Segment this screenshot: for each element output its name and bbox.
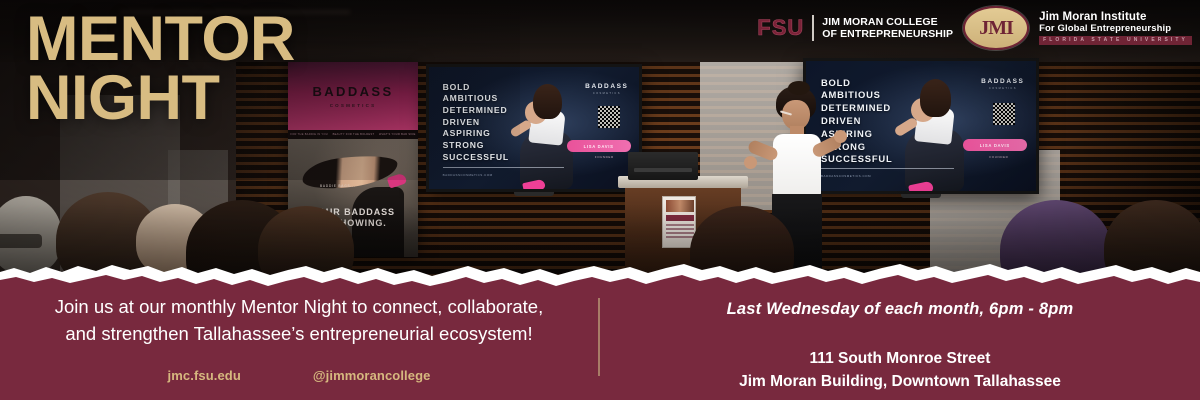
jmi-monogram: JMI — [979, 17, 1013, 40]
poster-tagline-small: BADDIE BAGS... — [320, 184, 355, 188]
screen-fine-print: BADDASSCOSMETICS.COM — [443, 173, 493, 177]
mentor-night-banner: BADDASS COSMETICS FOR THE BADDIE IN YOU … — [0, 0, 1200, 400]
screen-word-6: STRONG — [443, 140, 509, 152]
qr-code-icon — [598, 106, 620, 128]
fsu-college-name: JIM MORAN COLLEGE OF ENTREPRENEURSHIP — [822, 16, 953, 41]
presenter-hand-right — [834, 130, 847, 143]
screen-brand-lockup: BADDASS COSMETICS — [585, 83, 628, 95]
info-bar-right: Last Wednesday of each month, 6pm - 8pm … — [600, 282, 1200, 400]
event-blurb-line-2: and strengthen Tallahassee’s entrepreneu… — [55, 321, 543, 348]
screen-word-3: DETERMINED — [443, 105, 509, 117]
screen-word-7: SUCCESSFUL — [443, 152, 509, 164]
screen-word-list: BOLD AMBITIOUS DETERMINED DRIVEN ASPIRIN… — [443, 82, 509, 164]
info-bar-left: Join us at our monthly Mentor Night to c… — [0, 282, 598, 400]
event-schedule: Last Wednesday of each month, 6pm - 8pm — [727, 300, 1074, 319]
screen-word-5: ASPIRING — [443, 128, 509, 140]
audience-detail — [0, 234, 42, 248]
flyer-image — [666, 200, 694, 212]
event-blurb: Join us at our monthly Mentor Night to c… — [55, 294, 543, 348]
address-line-2: Jim Moran Building, Downtown Tallahassee — [739, 370, 1061, 393]
event-address: 111 South Monroe Street Jim Moran Buildi… — [739, 347, 1061, 394]
poster-navbar: FOR THE BADDIE IN YOU BEAUTY FOR THE BOL… — [288, 130, 418, 139]
fsu-college-line-2: OF ENTREPRENEURSHIP — [822, 28, 953, 40]
page-title: MENTOR NIGHT — [26, 10, 295, 127]
podium-monitor — [628, 152, 698, 180]
screen-brand-subtitle: COSMETICS — [585, 92, 628, 95]
screen-word-4: DRIVEN — [443, 117, 509, 129]
poster-brand-subtitle: COSMETICS — [330, 103, 377, 108]
screen-brand-name: BADDASS — [981, 78, 1024, 85]
poster-model-shoe — [387, 172, 408, 188]
screen-model-hair — [920, 79, 951, 117]
logo-lockup-group: FSU JIM MORAN COLLEGE OF ENTREPRENEURSHI… — [757, 6, 1192, 50]
screen-brand-subtitle: COSMETICS — [981, 87, 1024, 90]
screen-word-2: AMBITIOUS — [443, 93, 509, 105]
presenter-hand-left — [744, 156, 757, 169]
presentation-screen-left: BOLD AMBITIOUS DETERMINED DRIVEN ASPIRIN… — [426, 64, 642, 192]
poster-brand-name: BADDASS — [312, 84, 393, 99]
website-link[interactable]: jmc.fsu.edu — [168, 368, 241, 383]
info-bar-divider — [598, 298, 600, 376]
poster-header: BADDASS COSMETICS — [288, 62, 418, 130]
title-line-2: NIGHT — [26, 69, 295, 128]
presenter-hair-bun — [788, 81, 810, 95]
screen-model-figure — [505, 77, 589, 189]
screen-speaker-role: FOUNDER — [989, 155, 1008, 159]
screen-model-hair — [533, 84, 562, 120]
flyer-text-lines — [666, 224, 694, 238]
screen-left-stand — [514, 192, 554, 196]
poster-nav-item-3: WHAT'S YOUR BAD SIDE — [379, 133, 416, 136]
torn-edge-shape — [0, 258, 1200, 292]
fsu-college-line-1: JIM MORAN COLLEGE — [822, 16, 953, 28]
screen-word-1: BOLD — [443, 82, 509, 94]
jmi-name-line-1: Jim Moran Institute — [1039, 11, 1192, 24]
fsu-jmc-logo: FSU JIM MORAN COLLEGE OF ENTREPRENEURSHI… — [757, 15, 953, 41]
poster-nav-item-1: FOR THE BADDIE IN YOU — [290, 133, 328, 136]
poster-nav-item-2: BEAUTY FOR THE BOLDEST — [333, 133, 375, 136]
jmi-institute-name: Jim Moran Institute For Global Entrepren… — [1039, 11, 1192, 45]
info-bar: Join us at our monthly Mentor Night to c… — [0, 282, 1200, 400]
jmi-oval-logo-icon: JMI — [963, 6, 1029, 50]
event-blurb-line-1: Join us at our monthly Mentor Night to c… — [55, 294, 543, 321]
fsu-wordmark: FSU — [757, 15, 804, 41]
torn-paper-edge — [0, 258, 1200, 292]
flyer-title-bar — [666, 215, 694, 221]
social-handle-link[interactable]: @jimmorancollege — [313, 368, 431, 383]
address-line-1: 111 South Monroe Street — [739, 347, 1061, 370]
screen-brand-lockup: BADDASS COSMETICS — [981, 78, 1024, 90]
qr-code-icon — [993, 103, 1015, 125]
screen-divider-rule — [443, 167, 565, 168]
screen-right-stand — [901, 194, 941, 198]
screen-model-figure — [889, 71, 981, 191]
jmi-university-bar: FLORIDA STATE UNIVERSITY — [1039, 36, 1192, 45]
jmi-name-line-2: For Global Entrepreneurship — [1039, 24, 1192, 34]
screen-speaker-role: FOUNDER — [595, 155, 614, 159]
screen-speaker-badge: LISA DAVIS — [963, 139, 1027, 151]
presenter-top — [773, 134, 821, 196]
contact-links: jmc.fsu.edu @jimmorancollege — [168, 368, 431, 383]
screen-brand-name: BADDASS — [585, 83, 628, 90]
logo-divider — [812, 15, 814, 41]
screen-speaker-badge: LISA DAVIS — [567, 140, 631, 152]
